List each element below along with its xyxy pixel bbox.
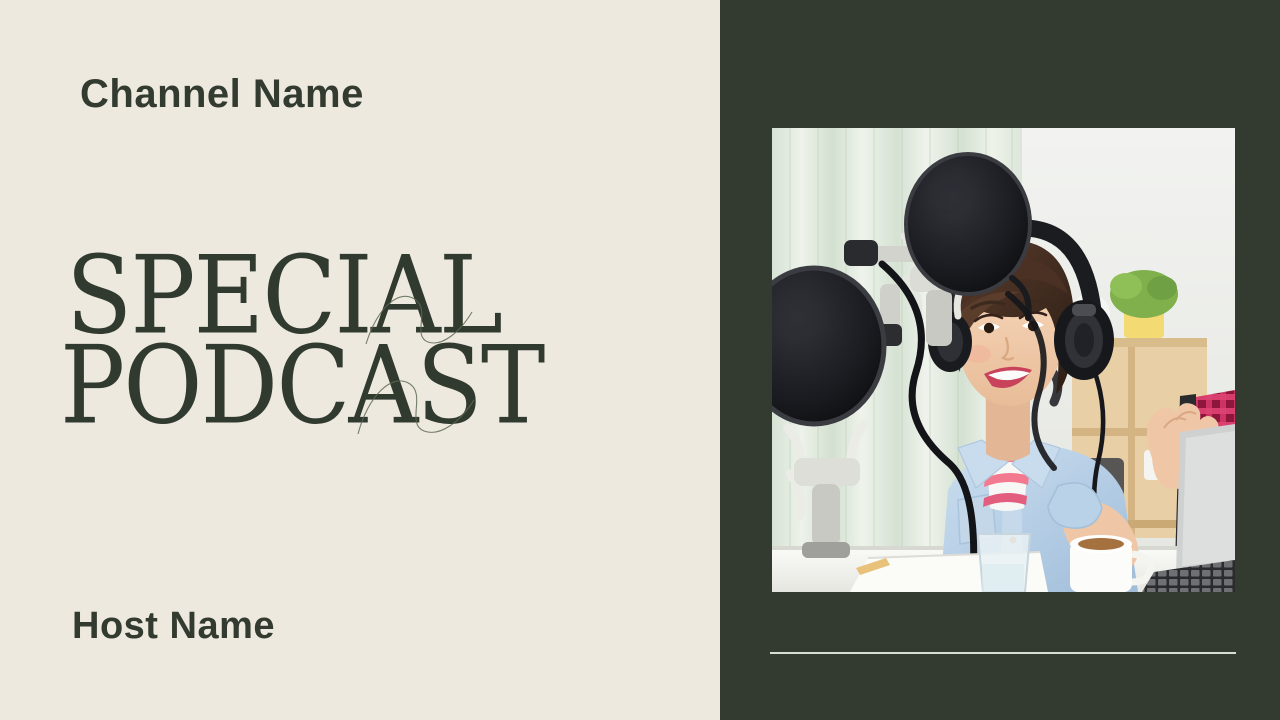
title-line-podcast: PODCAST	[60, 336, 637, 435]
divider-line	[770, 652, 1236, 654]
channel-name-text: Channel Name	[80, 72, 364, 117]
host-photo-illustration	[772, 128, 1235, 592]
host-photo	[772, 128, 1235, 592]
left-content-panel: Channel Name SPECIAL PODCAST Host Name	[0, 0, 720, 720]
title-block: SPECIAL PODCAST	[60, 248, 680, 433]
host-name-text: Host Name	[72, 605, 275, 648]
podcast-slide: Channel Name SPECIAL PODCAST Host Name	[0, 0, 1280, 720]
